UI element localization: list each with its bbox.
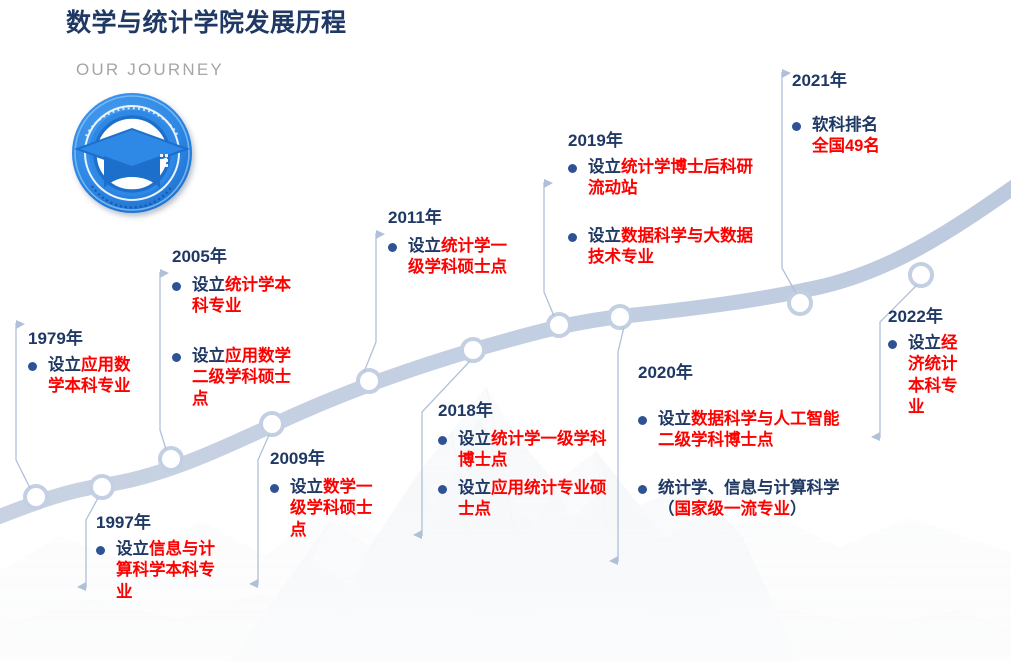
list-item: 设立统计学一级学科博士点 — [438, 429, 610, 472]
timeline-entry-2009[interactable]: 2009年 设立数学一级学科硕士点 — [270, 444, 386, 541]
entry-year-1979: 1979年 — [28, 324, 146, 349]
bullet-dot-icon — [388, 243, 397, 252]
timeline-entry-2011[interactable]: 2011年 设立统计学一级学科硕士点 — [388, 203, 518, 279]
list-item: 设立信息与计算科学本科专业 — [96, 539, 226, 603]
entry-year-2018: 2018年 — [438, 396, 610, 421]
list-item: 设立数学一级学科硕士点 — [270, 477, 386, 541]
entry-year-2009: 2009年 — [270, 444, 386, 469]
bullet-dot-icon — [638, 485, 647, 494]
item-text: 设立应用数学本科专业 — [48, 355, 146, 398]
bullet-dot-icon — [96, 546, 105, 555]
entry-items-2005: 设立统计学本科专业 设立应用数学二级学科硕士点 — [172, 275, 298, 410]
bullet-dot-icon — [638, 416, 647, 425]
item-text: 设立应用统计专业硕士点 — [458, 478, 610, 521]
bullet-dot-icon — [270, 484, 279, 493]
entry-items-2009: 设立数学一级学科硕士点 — [270, 477, 386, 541]
bullet-dot-icon — [28, 362, 37, 371]
entry-year-2005: 2005年 — [172, 242, 298, 267]
bullet-dot-icon — [568, 233, 577, 242]
subtitle-our-journey: OUR JOURNEY — [76, 60, 224, 80]
timeline-entry-2019[interactable]: 2019年 设立统计学博士后科研流动站 设立数据科学与大数据技术专业 — [568, 126, 756, 269]
bullet-dot-icon — [792, 122, 801, 131]
item-text: 设立统计学博士后科研流动站 — [588, 157, 756, 200]
entry-items-2018: 设立统计学一级学科博士点 设立应用统计专业硕士点 — [438, 429, 610, 521]
list-item: 统计学、信息与计算科学（国家级一流专业） — [638, 478, 854, 521]
entry-items-2011: 设立统计学一级学科硕士点 — [388, 236, 518, 279]
entry-items-1979: 设立应用数学本科专业 — [28, 355, 146, 398]
item-text: 设立信息与计算科学本科专业 — [116, 539, 226, 603]
list-item: 设立统计学本科专业 — [172, 275, 298, 318]
item-text: 设立数学一级学科硕士点 — [290, 477, 386, 541]
timeline-entry-2018[interactable]: 2018年 设立统计学一级学科博士点 设立应用统计专业硕士点 — [438, 396, 610, 521]
bullet-dot-icon — [438, 436, 447, 445]
timeline-entry-1997[interactable]: 1997年 设立信息与计算科学本科专业 — [96, 508, 226, 603]
entry-year-2021: 2021年 — [792, 66, 932, 91]
item-text: 设立数据科学与大数据技术专业 — [588, 226, 756, 269]
item-text: 设立数据科学与人工智能二级学科博士点 — [658, 409, 854, 452]
entry-items-2019: 设立统计学博士后科研流动站 设立数据科学与大数据技术专业 — [568, 157, 756, 269]
school-emblem-logo — [64, 88, 206, 222]
list-item: 设立数据科学与大数据技术专业 — [568, 226, 756, 269]
item-text: 设立统计学一级学科博士点 — [458, 429, 610, 472]
timeline-entry-1979[interactable]: 1979年 设立应用数学本科专业 — [28, 324, 146, 398]
timeline-infographic-canvas: 数学与统计学院发展历程 OUR JOURNEY — [0, 0, 1011, 661]
entry-year-2022: 2022年 — [888, 302, 960, 327]
page-title: 数学与统计学院发展历程 — [66, 3, 347, 39]
item-text: 设立应用数学二级学科硕士点 — [192, 346, 298, 410]
entry-year-2019: 2019年 — [568, 126, 756, 151]
list-item: 软科排名全国49名 — [792, 115, 932, 158]
timeline-entry-2022[interactable]: 2022年 设立经济统计本科专业 — [888, 302, 960, 419]
entry-items-1997: 设立信息与计算科学本科专业 — [96, 539, 226, 603]
item-text: 软科排名全国49名 — [812, 115, 880, 158]
entry-items-2022: 设立经济统计本科专业 — [888, 333, 960, 419]
item-text: 设立经济统计本科专业 — [908, 333, 960, 419]
timeline-entry-2021[interactable]: 2021年 软科排名全国49名 — [792, 66, 932, 158]
list-item: 设立统计学博士后科研流动站 — [568, 157, 756, 200]
item-text: 统计学、信息与计算科学（国家级一流专业） — [658, 478, 854, 521]
bullet-dot-icon — [172, 353, 181, 362]
list-item: 设立数据科学与人工智能二级学科博士点 — [638, 409, 854, 452]
entry-year-2011: 2011年 — [388, 203, 518, 228]
list-item: 设立经济统计本科专业 — [888, 333, 960, 419]
list-item: 设立应用数学二级学科硕士点 — [172, 346, 298, 410]
timeline-entry-2005[interactable]: 2005年 设立统计学本科专业 设立应用数学二级学科硕士点 — [172, 242, 298, 410]
bullet-dot-icon — [172, 282, 181, 291]
item-text: 设立统计学一级学科硕士点 — [408, 236, 518, 279]
item-text: 设立统计学本科专业 — [192, 275, 298, 318]
bullet-dot-icon — [438, 485, 447, 494]
entry-year-1997: 1997年 — [96, 508, 226, 533]
list-item: 设立统计学一级学科硕士点 — [388, 236, 518, 279]
timeline-entry-2020[interactable]: 2020年 设立数据科学与人工智能二级学科博士点 统计学、信息与计算科学（国家级… — [638, 358, 854, 521]
list-item: 设立应用统计专业硕士点 — [438, 478, 610, 521]
bullet-dot-icon — [568, 164, 577, 173]
entry-year-2020: 2020年 — [638, 358, 854, 383]
entry-items-2021: 软科排名全国49名 — [792, 115, 932, 158]
list-item: 设立应用数学本科专业 — [28, 355, 146, 398]
bullet-dot-icon — [888, 340, 897, 349]
entry-items-2020: 设立数据科学与人工智能二级学科博士点 统计学、信息与计算科学（国家级一流专业） — [638, 409, 854, 521]
